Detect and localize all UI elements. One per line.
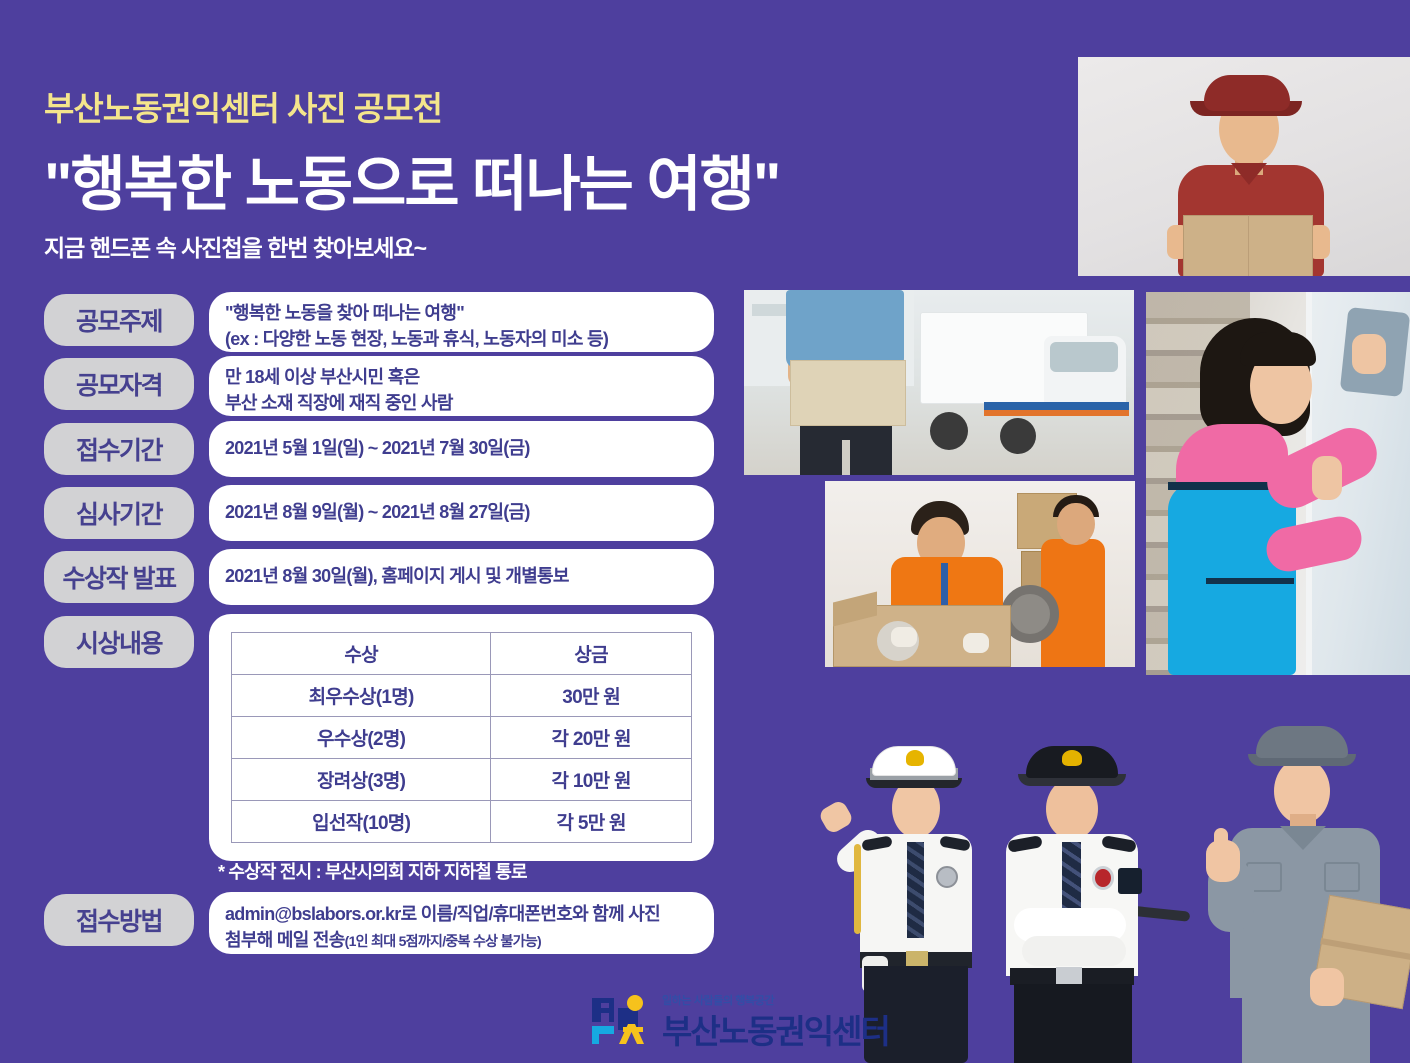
eligibility-line-1: 만 18세 이상 부산시민 혹은 <box>225 365 698 391</box>
prize-award: 입선작(10명) <box>232 801 491 843</box>
logo-name: 부산노동권익센터 <box>662 1005 889 1053</box>
figure-courier-grey-uniform <box>1200 724 1410 1063</box>
prize-award: 우수상(2명) <box>232 717 491 759</box>
row-label-judging-period: 심사기간 <box>44 487 194 539</box>
prize-panel: 수상 상금 최우수상(1명) 30만 원 우수상(2명) 각 20만 원 <box>209 614 714 861</box>
submission-email-line: admin@bslabors.or.kr로 이름/직업/휴대폰번호와 함께 사진 <box>225 902 698 928</box>
row-value-submission-period: 2021년 5월 1일(일) ~ 2021년 7월 30일(금) <box>209 421 714 477</box>
topic-line-1: "행복한 노동을 찾아 떠나는 여행" <box>225 301 698 327</box>
submission-detail-note: (1인 최대 5점까지/중복 수상 불가능) <box>345 933 541 949</box>
table-row: 입선작(10명) 각 5만 원 <box>232 801 692 843</box>
table-row: 최우수상(1명) 30만 원 <box>232 675 692 717</box>
row-label-topic: 공모주제 <box>44 294 194 346</box>
row-label-submission-period: 접수기간 <box>44 423 194 475</box>
announcement-line: 2021년 8월 30일(월), 홈페이지 게시 및 개별통보 <box>225 564 569 590</box>
table-row: 장려상(3명) 각 10만 원 <box>232 759 692 801</box>
exhibition-note: * 수상작 전시 : 부산시의회 지하 지하철 통로 <box>218 858 527 884</box>
eligibility-line-2: 부산 소재 직장에 재직 중인 사람 <box>225 391 698 417</box>
figure-security-guard-man <box>992 740 1152 1063</box>
organization-logo: 일하는 사람들의 행복공간 부산노동권익센터 <box>590 992 900 1048</box>
poster-kicker: 부산노동권익센터 사진 공모전 <box>44 82 442 130</box>
prize-amount: 각 20만 원 <box>491 717 692 759</box>
poster-canvas: 부산노동권익센터 사진 공모전 "행복한 노동으로 떠나는 여행" 지금 핸드폰… <box>0 0 1410 1063</box>
row-label-prizes: 시상내용 <box>44 616 194 668</box>
photo-movers-orange-coveralls <box>825 481 1135 667</box>
table-row: 우수상(2명) 각 20만 원 <box>232 717 692 759</box>
submission-detail-main: 첨부해 메일 전송 <box>225 930 345 950</box>
photo-delivery-worker-red-polo <box>1078 57 1410 276</box>
judging-period-line: 2021년 8월 9일(월) ~ 2021년 8월 27일(금) <box>225 500 530 526</box>
prize-header-award: 수상 <box>232 633 491 675</box>
prize-header-amount: 상금 <box>491 633 692 675</box>
poster-headline: "행복한 노동으로 떠나는 여행" <box>44 136 779 223</box>
row-value-judging-period: 2021년 8월 9일(월) ~ 2021년 8월 27일(금) <box>209 485 714 541</box>
row-value-submission-method: admin@bslabors.or.kr로 이름/직업/휴대폰번호와 함께 사진… <box>209 892 714 954</box>
row-value-topic: "행복한 노동을 찾아 떠나는 여행" (ex : 다양한 노동 현장, 노동과… <box>209 292 714 352</box>
row-value-eligibility: 만 18세 이상 부산시민 혹은 부산 소재 직장에 재직 중인 사람 <box>209 356 714 416</box>
photo-delivery-worker-blue-shirt-truck <box>744 290 1134 475</box>
prize-header-row: 수상 상금 <box>232 633 692 675</box>
row-label-submission-method: 접수방법 <box>44 894 194 946</box>
submission-period-line: 2021년 5월 1일(일) ~ 2021년 7월 30일(금) <box>225 436 530 462</box>
prize-amount: 각 5만 원 <box>491 801 692 843</box>
prize-table: 수상 상금 최우수상(1명) 30만 원 우수상(2명) 각 20만 원 <box>231 632 692 843</box>
row-label-announcement: 수상작 발표 <box>44 551 194 603</box>
poster-subline: 지금 핸드폰 속 사진첩을 한번 찾아보세요~ <box>44 229 426 263</box>
prize-amount: 각 10만 원 <box>491 759 692 801</box>
topic-line-2: (ex : 다양한 노동 현장, 노동과 휴식, 노동자의 미소 등) <box>225 327 698 353</box>
prize-award: 장려상(3명) <box>232 759 491 801</box>
prize-award: 최우수상(1명) <box>232 675 491 717</box>
prize-amount: 30만 원 <box>491 675 692 717</box>
submission-detail-line: 첨부해 메일 전송(1인 최대 5점까지/중복 수상 불가능) <box>225 928 698 954</box>
row-label-eligibility: 공모자격 <box>44 358 194 410</box>
bslabors-logo-mark <box>590 994 652 1046</box>
row-value-announcement: 2021년 8월 30일(월), 홈페이지 게시 및 개별통보 <box>209 549 714 605</box>
photo-convenience-store-worker-cleaning <box>1146 292 1410 675</box>
